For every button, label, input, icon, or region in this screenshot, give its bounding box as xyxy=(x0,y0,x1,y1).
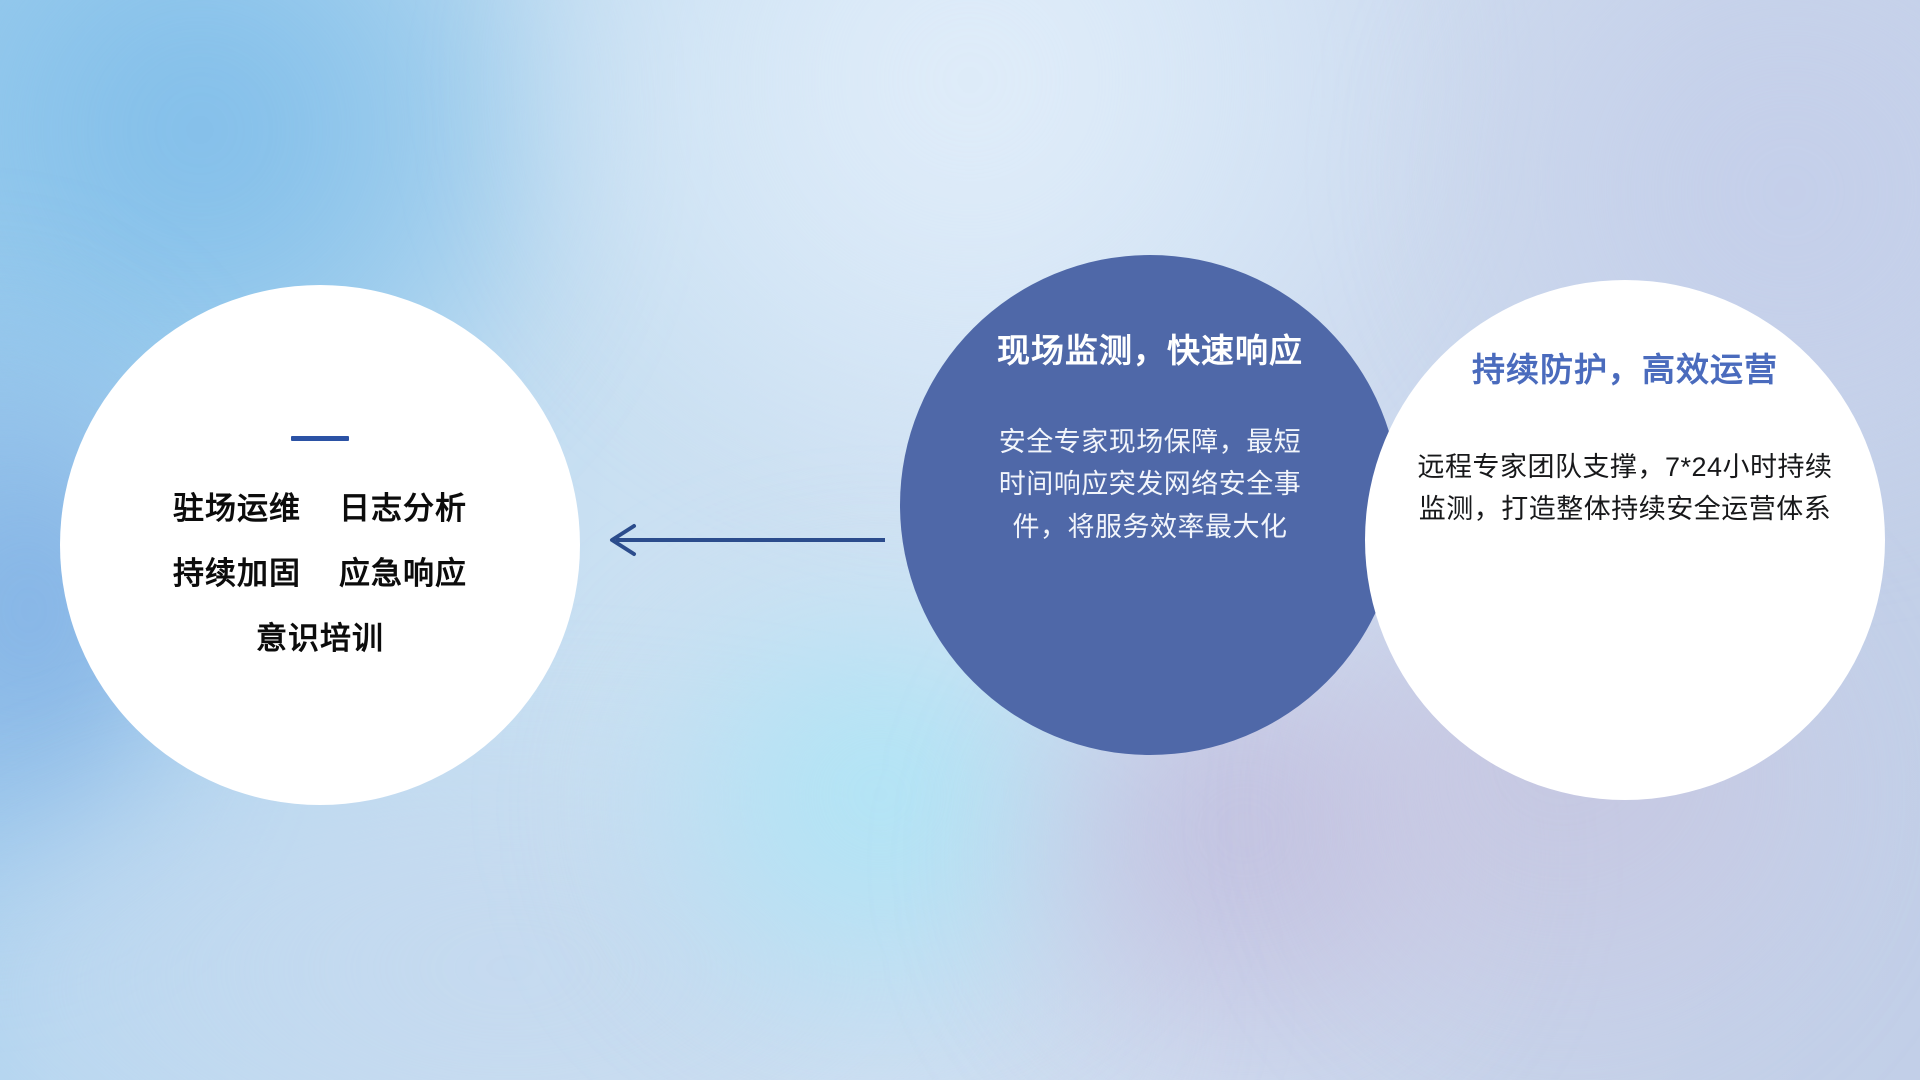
capability-item: 日志分析 xyxy=(339,493,467,524)
continuous-protection-body: 远程专家团队支撑，7*24小时持续监测，打造整体持续安全运营体系 xyxy=(1415,446,1835,530)
capability-item: 意识培训 xyxy=(256,623,384,654)
capability-row-3: 意识培训 xyxy=(256,623,384,654)
capability-item: 应急响应 xyxy=(339,558,467,589)
continuous-protection-circle: 持续防护，高效运营 远程专家团队支撑，7*24小时持续监测，打造整体持续安全运营… xyxy=(1365,280,1885,800)
divider-dash xyxy=(291,436,349,441)
arrow-left-icon xyxy=(600,520,890,560)
capabilities-circle: 驻场运维 日志分析 持续加固 应急响应 意识培训 xyxy=(60,285,580,805)
capability-item: 持续加固 xyxy=(173,558,301,589)
capability-item: 驻场运维 xyxy=(173,493,301,524)
onsite-monitoring-body: 安全专家现场保障，最短时间响应突发网络安全事件，将服务效率最大化 xyxy=(990,421,1310,547)
onsite-monitoring-title: 现场监测，快速响应 xyxy=(997,333,1303,369)
capability-row-2: 持续加固 应急响应 xyxy=(173,558,467,589)
continuous-protection-title: 持续防护，高效运营 xyxy=(1472,352,1778,388)
onsite-monitoring-circle: 现场监测，快速响应 安全专家现场保障，最短时间响应突发网络安全事件，将服务效率最… xyxy=(900,255,1400,755)
capability-row-1: 驻场运维 日志分析 xyxy=(173,493,467,524)
